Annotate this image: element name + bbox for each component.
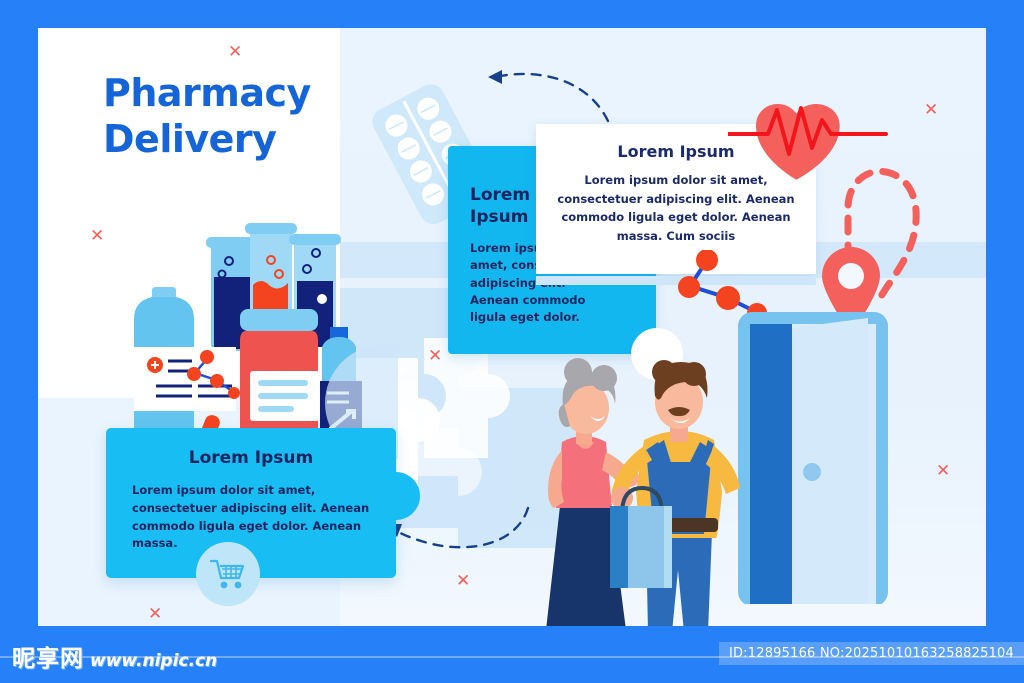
big-card-body: Lorem ipsum dolor sit amet, consectetuer… [106, 468, 382, 553]
decor-x-2: ✕ [90, 228, 104, 245]
poster-root: Pharmacy Delivery [0, 0, 1024, 683]
decor-x-7: ✕ [936, 463, 950, 480]
decor-x-3: ✕ [428, 348, 442, 365]
decor-x-1: ✕ [228, 44, 242, 61]
image-id-label: ID:12895166 NO:20251010163258825104 [719, 642, 1024, 665]
decor-x-6: ✕ [924, 102, 938, 119]
decor-x-4: ✕ [456, 573, 470, 590]
site-url: www.nipic.cn [90, 651, 217, 673]
footer-watermark-bar: 昵享网 www.nipic.cn ID:12895166 NO:20251010… [0, 626, 1024, 683]
dashed-arrow-top [478, 66, 618, 126]
site-watermark: 昵享网 www.nipic.cn [12, 639, 217, 673]
big-card-heading: Lorem Ipsum [106, 428, 396, 468]
shopping-cart-badge[interactable] [196, 542, 260, 606]
shopping-cart-icon [210, 558, 246, 590]
big-puzzle-knob [372, 472, 420, 520]
site-name-cn: 昵享网 [12, 639, 84, 673]
decor-x-5: ✕ [148, 606, 162, 623]
poster-canvas: Pharmacy Delivery [38, 28, 986, 626]
title-line-1: Pharmacy [103, 71, 311, 115]
delivery-scene-characters [518, 346, 748, 626]
